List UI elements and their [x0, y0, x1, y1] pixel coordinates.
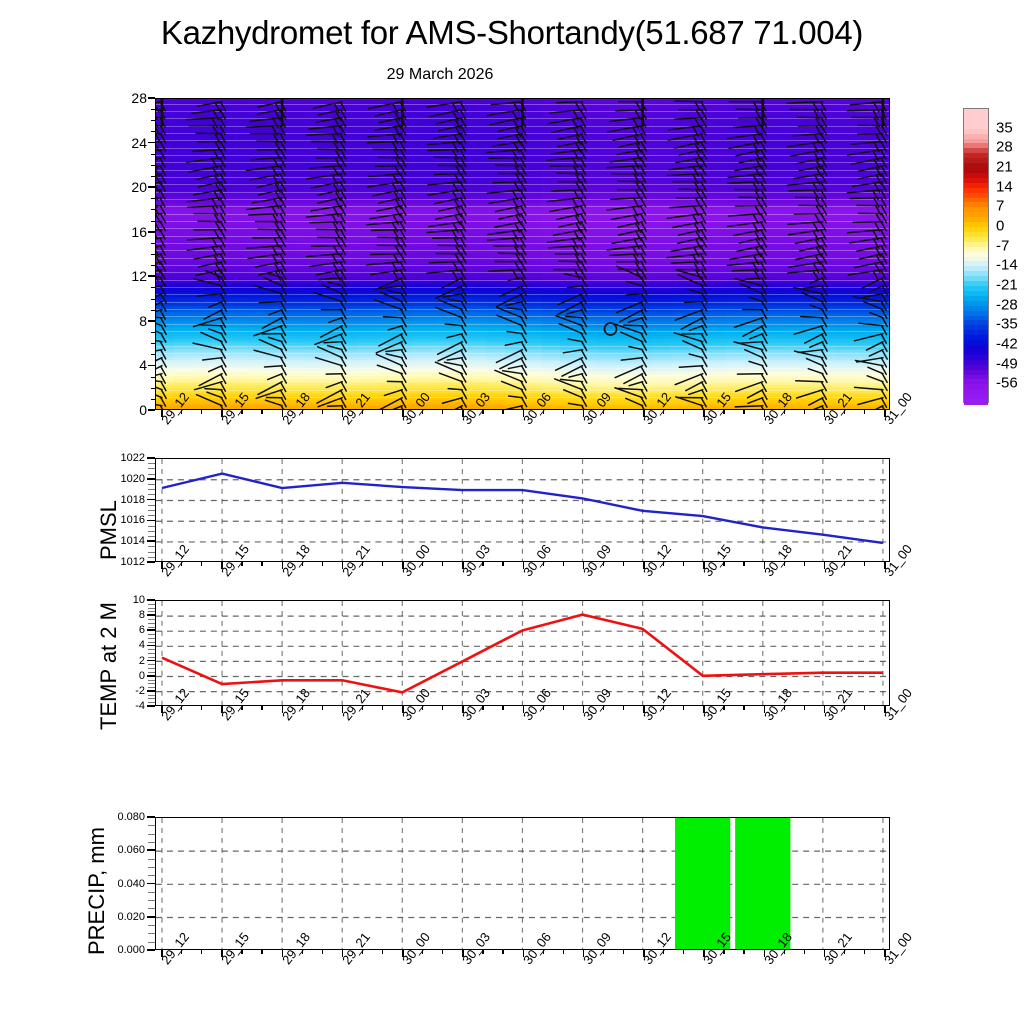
x-minor-tick [482, 410, 483, 414]
y-tick [147, 949, 155, 951]
y-tick-label: 1014 [115, 535, 145, 547]
x-minor-tick [181, 706, 182, 710]
cross-section-y-minor-tick [151, 254, 155, 255]
x-minor-tick [241, 706, 242, 710]
y-minor-tick [148, 680, 155, 681]
y-tick [147, 816, 155, 818]
x-minor-tick [663, 706, 664, 710]
y-minor-tick [148, 619, 155, 620]
y-tick-label: 6 [127, 624, 145, 636]
x-minor-tick [302, 950, 303, 954]
y-tick [147, 705, 155, 707]
x-minor-tick [181, 562, 182, 566]
y-minor-tick [148, 900, 155, 901]
y-minor-tick [148, 531, 155, 532]
y-tick [147, 690, 155, 692]
x-minor-tick [382, 706, 383, 710]
x-minor-tick [683, 410, 684, 414]
y-minor-tick [148, 623, 155, 624]
x-minor-tick [362, 410, 363, 414]
y-tick [147, 614, 155, 616]
x-minor-tick [864, 410, 865, 414]
x-minor-tick [261, 562, 262, 566]
y-minor-tick [148, 875, 155, 876]
cross-section-y-minor-tick [151, 354, 155, 355]
x-minor-tick [201, 562, 202, 566]
y-tick-label: 1022 [115, 452, 145, 464]
y-minor-tick [148, 557, 155, 558]
y-minor-tick [148, 484, 155, 485]
x-minor-tick [543, 950, 544, 954]
cross-section-y-minor-tick [151, 299, 155, 300]
y-tick-label: 0.060 [107, 844, 145, 856]
x-minor-tick [261, 706, 262, 710]
cross-section-y-minor-tick [151, 388, 155, 389]
x-minor-tick [743, 410, 744, 414]
x-minor-tick [201, 706, 202, 710]
x-minor-tick [864, 706, 865, 710]
y-tick [147, 478, 155, 480]
y-tick [147, 520, 155, 522]
x-minor-tick [603, 706, 604, 710]
y-minor-tick [148, 526, 155, 527]
x-minor-tick [723, 950, 724, 954]
cross-section-y-minor-tick [151, 332, 155, 333]
y-minor-tick [148, 627, 155, 628]
x-minor-tick [723, 706, 724, 710]
x-minor-tick [563, 950, 564, 954]
x-minor-tick [784, 950, 785, 954]
x-minor-tick [261, 410, 262, 414]
cross-section-y-minor-tick [151, 209, 155, 210]
x-minor-tick [382, 562, 383, 566]
x-minor-tick [543, 706, 544, 710]
y-tick-label: 0.020 [107, 911, 145, 923]
precip-bars [156, 818, 889, 950]
y-minor-tick [148, 634, 155, 635]
y-minor-tick [148, 552, 155, 553]
wind-barbs-overlay [156, 99, 889, 410]
x-minor-tick [743, 706, 744, 710]
x-minor-tick [603, 950, 604, 954]
x-minor-tick [181, 410, 182, 414]
x-minor-tick [382, 410, 383, 414]
x-minor-tick [261, 950, 262, 954]
x-minor-tick [844, 410, 845, 414]
y-tick [147, 499, 155, 501]
y-tick-label: 4 [127, 639, 145, 651]
colorbar-tick-label: 7 [996, 198, 1004, 215]
y-tick [147, 660, 155, 662]
colorbar-tick-label: -21 [996, 277, 1018, 294]
x-minor-tick [482, 950, 483, 954]
x-minor-tick [181, 950, 182, 954]
y-tick [147, 675, 155, 677]
x-minor-tick [683, 706, 684, 710]
y-tick-label: 1018 [115, 494, 145, 506]
x-minor-tick [543, 562, 544, 566]
y-minor-tick [148, 672, 155, 673]
y-minor-tick [148, 515, 155, 516]
cross-section-y-tick [148, 320, 155, 322]
x-minor-tick [623, 706, 624, 710]
y-minor-tick [148, 489, 155, 490]
temperature-colorbar[interactable] [963, 108, 989, 403]
x-minor-tick [322, 950, 323, 954]
x-minor-tick [683, 950, 684, 954]
cross-section-y-tick-label: 12 [99, 268, 147, 284]
cross-section-y-minor-tick [151, 176, 155, 177]
x-minor-tick [442, 562, 443, 566]
x-minor-tick [241, 410, 242, 414]
cross-section-y-minor-tick [151, 287, 155, 288]
y-minor-tick [148, 698, 155, 699]
x-minor-tick [422, 562, 423, 566]
page-subtitle: 29 March 2026 [0, 66, 880, 84]
cross-section-y-tick-label: 28 [99, 90, 147, 106]
x-minor-tick [322, 706, 323, 710]
y-minor-tick [148, 683, 155, 684]
y-tick-label: 0.000 [107, 944, 145, 956]
x-minor-tick [804, 562, 805, 566]
x-minor-tick [362, 950, 363, 954]
y-minor-tick [148, 668, 155, 669]
y-minor-tick [148, 611, 155, 612]
x-minor-tick [442, 950, 443, 954]
x-minor-tick [804, 950, 805, 954]
x-minor-tick [743, 562, 744, 566]
x-minor-tick [864, 562, 865, 566]
cross-section-y-tick-label: 8 [99, 313, 147, 329]
cross-section-y-minor-tick [151, 120, 155, 121]
y-tick-label: 1016 [115, 514, 145, 526]
cross-section-y-tick [148, 275, 155, 277]
cross-section-y-minor-tick [151, 310, 155, 311]
y-tick-label: -4 [127, 700, 145, 712]
x-minor-tick [623, 950, 624, 954]
y-minor-tick [148, 510, 155, 511]
y-minor-tick [148, 859, 155, 860]
y-minor-tick [148, 638, 155, 639]
y-tick-label: 0 [127, 670, 145, 682]
y-minor-tick [148, 463, 155, 464]
cross-section-y-tick-label: 4 [99, 357, 147, 373]
x-minor-tick [784, 410, 785, 414]
x-minor-tick [723, 410, 724, 414]
pmsl-axis-label: PMSL [96, 500, 122, 560]
cross-section-y-minor-tick [151, 131, 155, 132]
y-minor-tick [148, 649, 155, 650]
cross-section-y-tick [148, 142, 155, 144]
x-minor-tick [743, 950, 744, 954]
x-minor-tick [322, 562, 323, 566]
cross-section-y-minor-tick [151, 221, 155, 222]
precip-panel[interactable] [155, 817, 890, 950]
y-minor-tick [148, 505, 155, 506]
cross-section-y-minor-tick [151, 377, 155, 378]
x-minor-tick [543, 410, 544, 414]
x-minor-tick [844, 950, 845, 954]
cross-section-y-tick [148, 97, 155, 99]
y-minor-tick [148, 702, 155, 703]
page-title: Kazhydromet for AMS-Shortandy(51.687 71.… [0, 14, 1024, 52]
x-minor-tick [362, 706, 363, 710]
y-tick [147, 540, 155, 542]
x-minor-tick [201, 950, 202, 954]
y-tick-label: 1020 [115, 473, 145, 485]
y-minor-tick [148, 604, 155, 605]
x-minor-tick [563, 410, 564, 414]
colorbar-tick-label: -28 [996, 296, 1018, 313]
y-tick-label: -2 [127, 685, 145, 697]
y-tick [147, 883, 155, 885]
x-minor-tick [362, 562, 363, 566]
cross-section-y-tick-label: 24 [99, 135, 147, 151]
y-tick [147, 457, 155, 459]
x-minor-tick [502, 706, 503, 710]
cross-section-y-tick-label: 16 [99, 224, 147, 240]
temp-axis-label: TEMP at 2 M [96, 602, 122, 730]
x-minor-tick [844, 562, 845, 566]
x-minor-tick [784, 562, 785, 566]
cross-section-y-minor-tick [151, 243, 155, 244]
x-minor-tick [623, 410, 624, 414]
x-minor-tick [482, 706, 483, 710]
y-minor-tick [148, 825, 155, 826]
y-minor-tick [148, 536, 155, 537]
x-minor-tick [502, 950, 503, 954]
y-minor-tick [148, 494, 155, 495]
x-minor-tick [623, 562, 624, 566]
colorbar-tick-label: 28 [996, 139, 1013, 156]
y-tick-label: 0.040 [107, 878, 145, 890]
cross-section-y-tick [148, 409, 155, 411]
x-minor-tick [844, 706, 845, 710]
cross-section-y-minor-tick [151, 399, 155, 400]
colorbar-tick-label: -14 [996, 257, 1018, 274]
x-minor-tick [442, 706, 443, 710]
x-minor-tick [663, 410, 664, 414]
x-minor-tick [804, 410, 805, 414]
y-minor-tick [148, 608, 155, 609]
x-minor-tick [201, 410, 202, 414]
y-minor-tick [148, 687, 155, 688]
colorbar-tick-label: -35 [996, 316, 1018, 333]
y-minor-tick [148, 933, 155, 934]
x-minor-tick [603, 562, 604, 566]
x-minor-tick [422, 950, 423, 954]
y-minor-tick [148, 892, 155, 893]
x-minor-tick [302, 562, 303, 566]
x-minor-tick [322, 410, 323, 414]
y-tick-label: 0.080 [107, 811, 145, 823]
x-minor-tick [804, 706, 805, 710]
cross-section-y-minor-tick [151, 343, 155, 344]
y-tick [147, 849, 155, 851]
x-minor-tick [302, 706, 303, 710]
y-minor-tick [148, 842, 155, 843]
cross-section-y-tick [148, 186, 155, 188]
y-tick [147, 561, 155, 563]
x-minor-tick [241, 562, 242, 566]
cross-section-y-minor-tick [151, 109, 155, 110]
x-minor-tick [241, 950, 242, 954]
y-minor-tick [148, 657, 155, 658]
colorbar-tick-label: 35 [996, 119, 1013, 136]
upper-air-cross-section-panel[interactable] [155, 98, 890, 410]
y-minor-tick [148, 834, 155, 835]
y-tick-label: 1012 [115, 556, 145, 568]
y-tick-label: 10 [127, 594, 145, 606]
y-minor-tick [148, 695, 155, 696]
x-minor-tick [302, 410, 303, 414]
x-minor-tick [482, 562, 483, 566]
cross-section-y-tick [148, 231, 155, 233]
y-minor-tick [148, 642, 155, 643]
y-minor-tick [148, 867, 155, 868]
x-minor-tick [784, 706, 785, 710]
y-minor-tick [148, 474, 155, 475]
x-minor-tick [382, 950, 383, 954]
x-minor-tick [663, 562, 664, 566]
x-minor-tick [683, 562, 684, 566]
y-tick-label: 2 [127, 655, 145, 667]
y-tick [147, 916, 155, 918]
y-minor-tick [148, 908, 155, 909]
y-minor-tick [148, 664, 155, 665]
x-minor-tick [442, 410, 443, 414]
y-tick-label: 8 [127, 609, 145, 621]
y-minor-tick [148, 546, 155, 547]
colorbar-tick-label: -56 [996, 375, 1018, 392]
cross-section-y-minor-tick [151, 198, 155, 199]
x-minor-tick [864, 950, 865, 954]
colorbar-tick-label: -42 [996, 336, 1018, 353]
x-minor-tick [723, 562, 724, 566]
cross-section-y-minor-tick [151, 154, 155, 155]
y-minor-tick [148, 925, 155, 926]
x-minor-tick [422, 706, 423, 710]
x-minor-tick [502, 562, 503, 566]
x-minor-tick [663, 950, 664, 954]
y-tick [147, 599, 155, 601]
y-minor-tick [148, 468, 155, 469]
y-minor-tick [148, 653, 155, 654]
y-tick [147, 645, 155, 647]
x-minor-tick [502, 410, 503, 414]
x-minor-tick [422, 410, 423, 414]
cross-section-y-tick-label: 20 [99, 179, 147, 195]
y-tick [147, 629, 155, 631]
colorbar-tick-label: -7 [996, 237, 1009, 254]
cross-section-y-tick-label: 0 [99, 402, 147, 418]
colorbar-tick-label: -49 [996, 355, 1018, 372]
cross-section-y-minor-tick [151, 265, 155, 266]
x-minor-tick [563, 706, 564, 710]
cross-section-y-tick [148, 365, 155, 367]
x-minor-tick [563, 562, 564, 566]
colorbar-tick-label: 0 [996, 218, 1004, 235]
x-minor-tick [603, 410, 604, 414]
y-minor-tick [148, 942, 155, 943]
colorbar-tick-label: 14 [996, 178, 1013, 195]
colorbar-tick-label: 21 [996, 159, 1013, 176]
cross-section-y-minor-tick [151, 165, 155, 166]
